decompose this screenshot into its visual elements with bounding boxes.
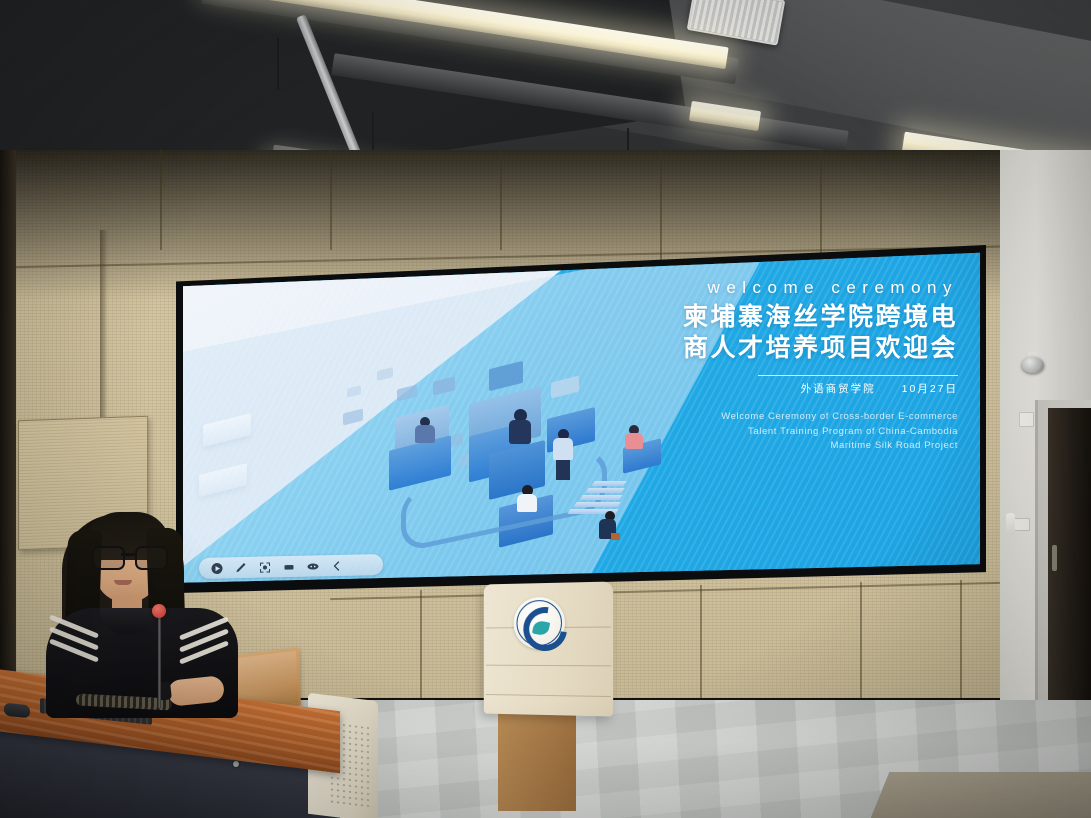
avatar-chip-1 <box>377 367 393 381</box>
slide-english-line2: Talent Training Program of China-Cambodi… <box>528 425 958 440</box>
wall-sensor <box>1006 513 1015 535</box>
slide-meta: 外语商贸学院 10月27日 <box>528 381 958 396</box>
podium-seam-2 <box>486 665 611 667</box>
lecture-hall-photo: welcome ceremony 柬埔寨海丝学院跨境电 商人才培养项目欢迎会 外… <box>0 0 1091 818</box>
presenter <box>40 500 240 710</box>
slide-headline-line1: 柬埔寨海丝学院跨境电 <box>528 302 958 333</box>
select-frame-icon[interactable] <box>258 560 271 573</box>
door-handle[interactable] <box>1052 545 1057 571</box>
person-video-left <box>415 417 435 443</box>
microphone-stand <box>158 612 161 708</box>
desk-knob[interactable] <box>233 761 239 767</box>
presenter-glasses <box>92 546 164 566</box>
back-chevron-icon[interactable] <box>330 559 343 572</box>
avatar-chip-6 <box>489 361 523 391</box>
glasses-lens-right <box>135 546 168 570</box>
glasses-bridge <box>121 553 135 556</box>
camera-dome <box>1022 357 1044 373</box>
wall-seam-v-10 <box>960 580 962 706</box>
wall-seam-v-8 <box>700 585 702 707</box>
wall-seam-v-2 <box>330 150 332 250</box>
more-options-icon[interactable] <box>306 559 319 572</box>
slide-english-line3: Maritime Silk Road Project <box>528 439 958 454</box>
podium <box>482 583 612 818</box>
eraser-icon[interactable] <box>282 560 295 573</box>
person-walking <box>599 511 620 540</box>
slide-text-block: welcome ceremony 柬埔寨海丝学院跨境电 商人才培养项目欢迎会 外… <box>528 278 958 454</box>
slide-org: 外语商贸学院 <box>801 381 876 396</box>
university-emblem <box>514 597 565 649</box>
wall-seam-v-9 <box>860 582 862 706</box>
led-screen[interactable]: welcome ceremony 柬埔寨海丝学院跨境电 商人才培养项目欢迎会 外… <box>183 250 980 586</box>
slide-divider <box>758 375 958 376</box>
slide-english-subtitle: Welcome Ceremony of Cross-border E-comme… <box>528 410 958 454</box>
security-camera-icon <box>1020 352 1046 372</box>
microphone-icon <box>152 604 166 618</box>
wall-seam-v-4 <box>660 150 662 260</box>
slide-english-line1: Welcome Ceremony of Cross-border E-comme… <box>528 410 958 425</box>
presenter-mouth <box>114 580 132 585</box>
slide-date: 10月27日 <box>902 381 958 396</box>
power-outlet[interactable] <box>1013 518 1030 531</box>
glasses-lens-left <box>92 546 125 570</box>
floor-threshold <box>871 772 1091 818</box>
podium-seam-3 <box>486 694 611 697</box>
wall-seam-v-1 <box>160 150 162 250</box>
avatar-chip-5 <box>433 376 455 395</box>
light-switch[interactable] <box>1019 412 1034 427</box>
wall-seam-v-5 <box>820 150 822 270</box>
ceiling-rod-5 <box>372 112 374 150</box>
podium-base <box>498 711 576 811</box>
wall-seam-v-6 <box>420 590 422 710</box>
slide-eyebrow: welcome ceremony <box>528 278 958 298</box>
presentation-slide: welcome ceremony 柬埔寨海丝学院跨境电 商人才培养项目欢迎会 外… <box>183 250 980 586</box>
wall-seam-v-3 <box>500 150 502 250</box>
podium-panel <box>484 581 613 716</box>
left-wall-edge <box>0 150 16 710</box>
slide-headline-line2: 商人才培养项目欢迎会 <box>528 333 958 364</box>
ceiling-rod-1 <box>277 38 279 90</box>
avatar-chip-4 <box>343 409 363 426</box>
desk-device[interactable] <box>4 703 30 719</box>
avatar-chip-2 <box>347 385 361 397</box>
avatar-chip-3 <box>397 385 417 402</box>
person-seated-front <box>517 485 537 512</box>
